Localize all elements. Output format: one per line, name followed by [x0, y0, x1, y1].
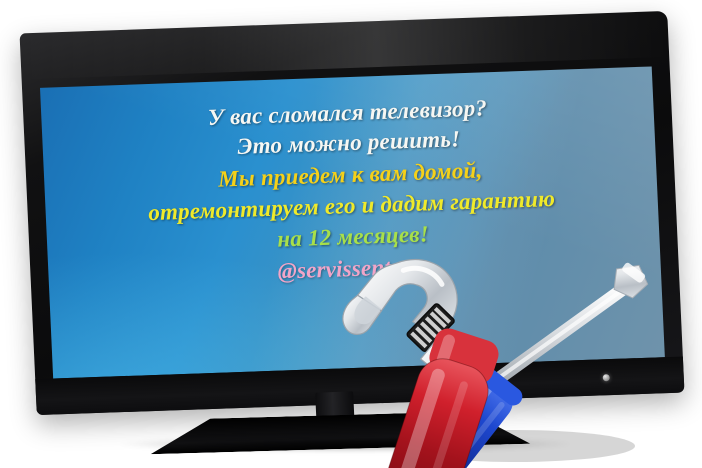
advertisement-poster: У вас сломался телевизор? Это можно реши…	[0, 0, 702, 468]
repair-tools-group	[330, 240, 702, 468]
